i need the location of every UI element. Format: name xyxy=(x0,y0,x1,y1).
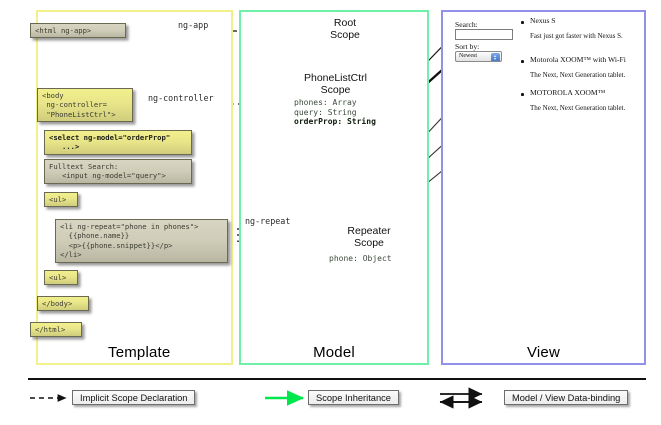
list-bullet-icon xyxy=(521,21,524,24)
code-box-body-ng-controller: <body ng-controller= "PhoneListCtrl"> xyxy=(37,88,133,122)
model-panel-title: Model xyxy=(241,344,427,361)
view-phone-snippet-0: Fast just got faster with Nexus S. xyxy=(530,32,623,40)
legend-item-scope-inheritance: Scope Inheritance xyxy=(308,390,399,405)
edge-label-ng-app: ng-app xyxy=(178,20,208,30)
legend-item-implicit-scope-declaration: Implicit Scope Declaration xyxy=(72,390,195,405)
code-box-fulltext-search-input: Fulltext Search: <input ng-model="query"… xyxy=(44,159,192,184)
code-box-li-ng-repeat: <li ng-repeat="phone in phones"> {{phone… xyxy=(55,219,228,263)
list-bullet-icon xyxy=(521,60,524,63)
model-panel: Model xyxy=(239,10,429,365)
code-box-html-ng-app: <html ng-app> xyxy=(30,23,126,38)
code-box-html-close: </html> xyxy=(30,322,82,337)
sort-by-select[interactable]: Newest xyxy=(455,51,502,62)
code-box-ul-open: <ul> xyxy=(44,192,78,207)
sort-by-label: Sort by: xyxy=(455,42,479,51)
code-box-ul-close: <ul> xyxy=(44,270,78,285)
view-phone-name-1[interactable]: Motorola XOOM™ with Wi-Fi xyxy=(530,55,626,64)
edge-label-ng-controller: ng-controller xyxy=(148,93,214,103)
template-panel: Template xyxy=(36,10,233,365)
view-phone-name-0[interactable]: Nexus S xyxy=(530,16,556,25)
legend-divider xyxy=(28,378,646,380)
sort-by-selected-value: Newest xyxy=(459,53,477,59)
view-phone-snippet-1: The Next, Next Generation tablet. xyxy=(530,71,625,79)
template-panel-title: Template xyxy=(38,344,231,361)
search-input[interactable] xyxy=(455,29,513,40)
view-phone-snippet-2: The Next, Next Generation tablet. xyxy=(530,104,625,112)
code-box-select-order-prop: <select ng-model="orderProp" ...> xyxy=(44,130,192,155)
view-panel-title: View xyxy=(443,344,644,361)
list-bullet-icon xyxy=(521,93,524,96)
code-box-body-close: </body> xyxy=(37,296,89,311)
view-phone-name-2[interactable]: MOTOROLA XOOM™ xyxy=(530,88,605,97)
chevron-updown-icon xyxy=(491,53,500,62)
edge-label-ng-repeat: ng-repeat xyxy=(245,216,290,226)
legend-item-model-view-data-binding: Model / View Data-binding xyxy=(504,390,628,405)
legend-glyph-double xyxy=(440,394,482,402)
search-label: Search: xyxy=(455,20,478,29)
diagram-canvas: Template Model View <html ng-app> <body … xyxy=(0,0,661,425)
